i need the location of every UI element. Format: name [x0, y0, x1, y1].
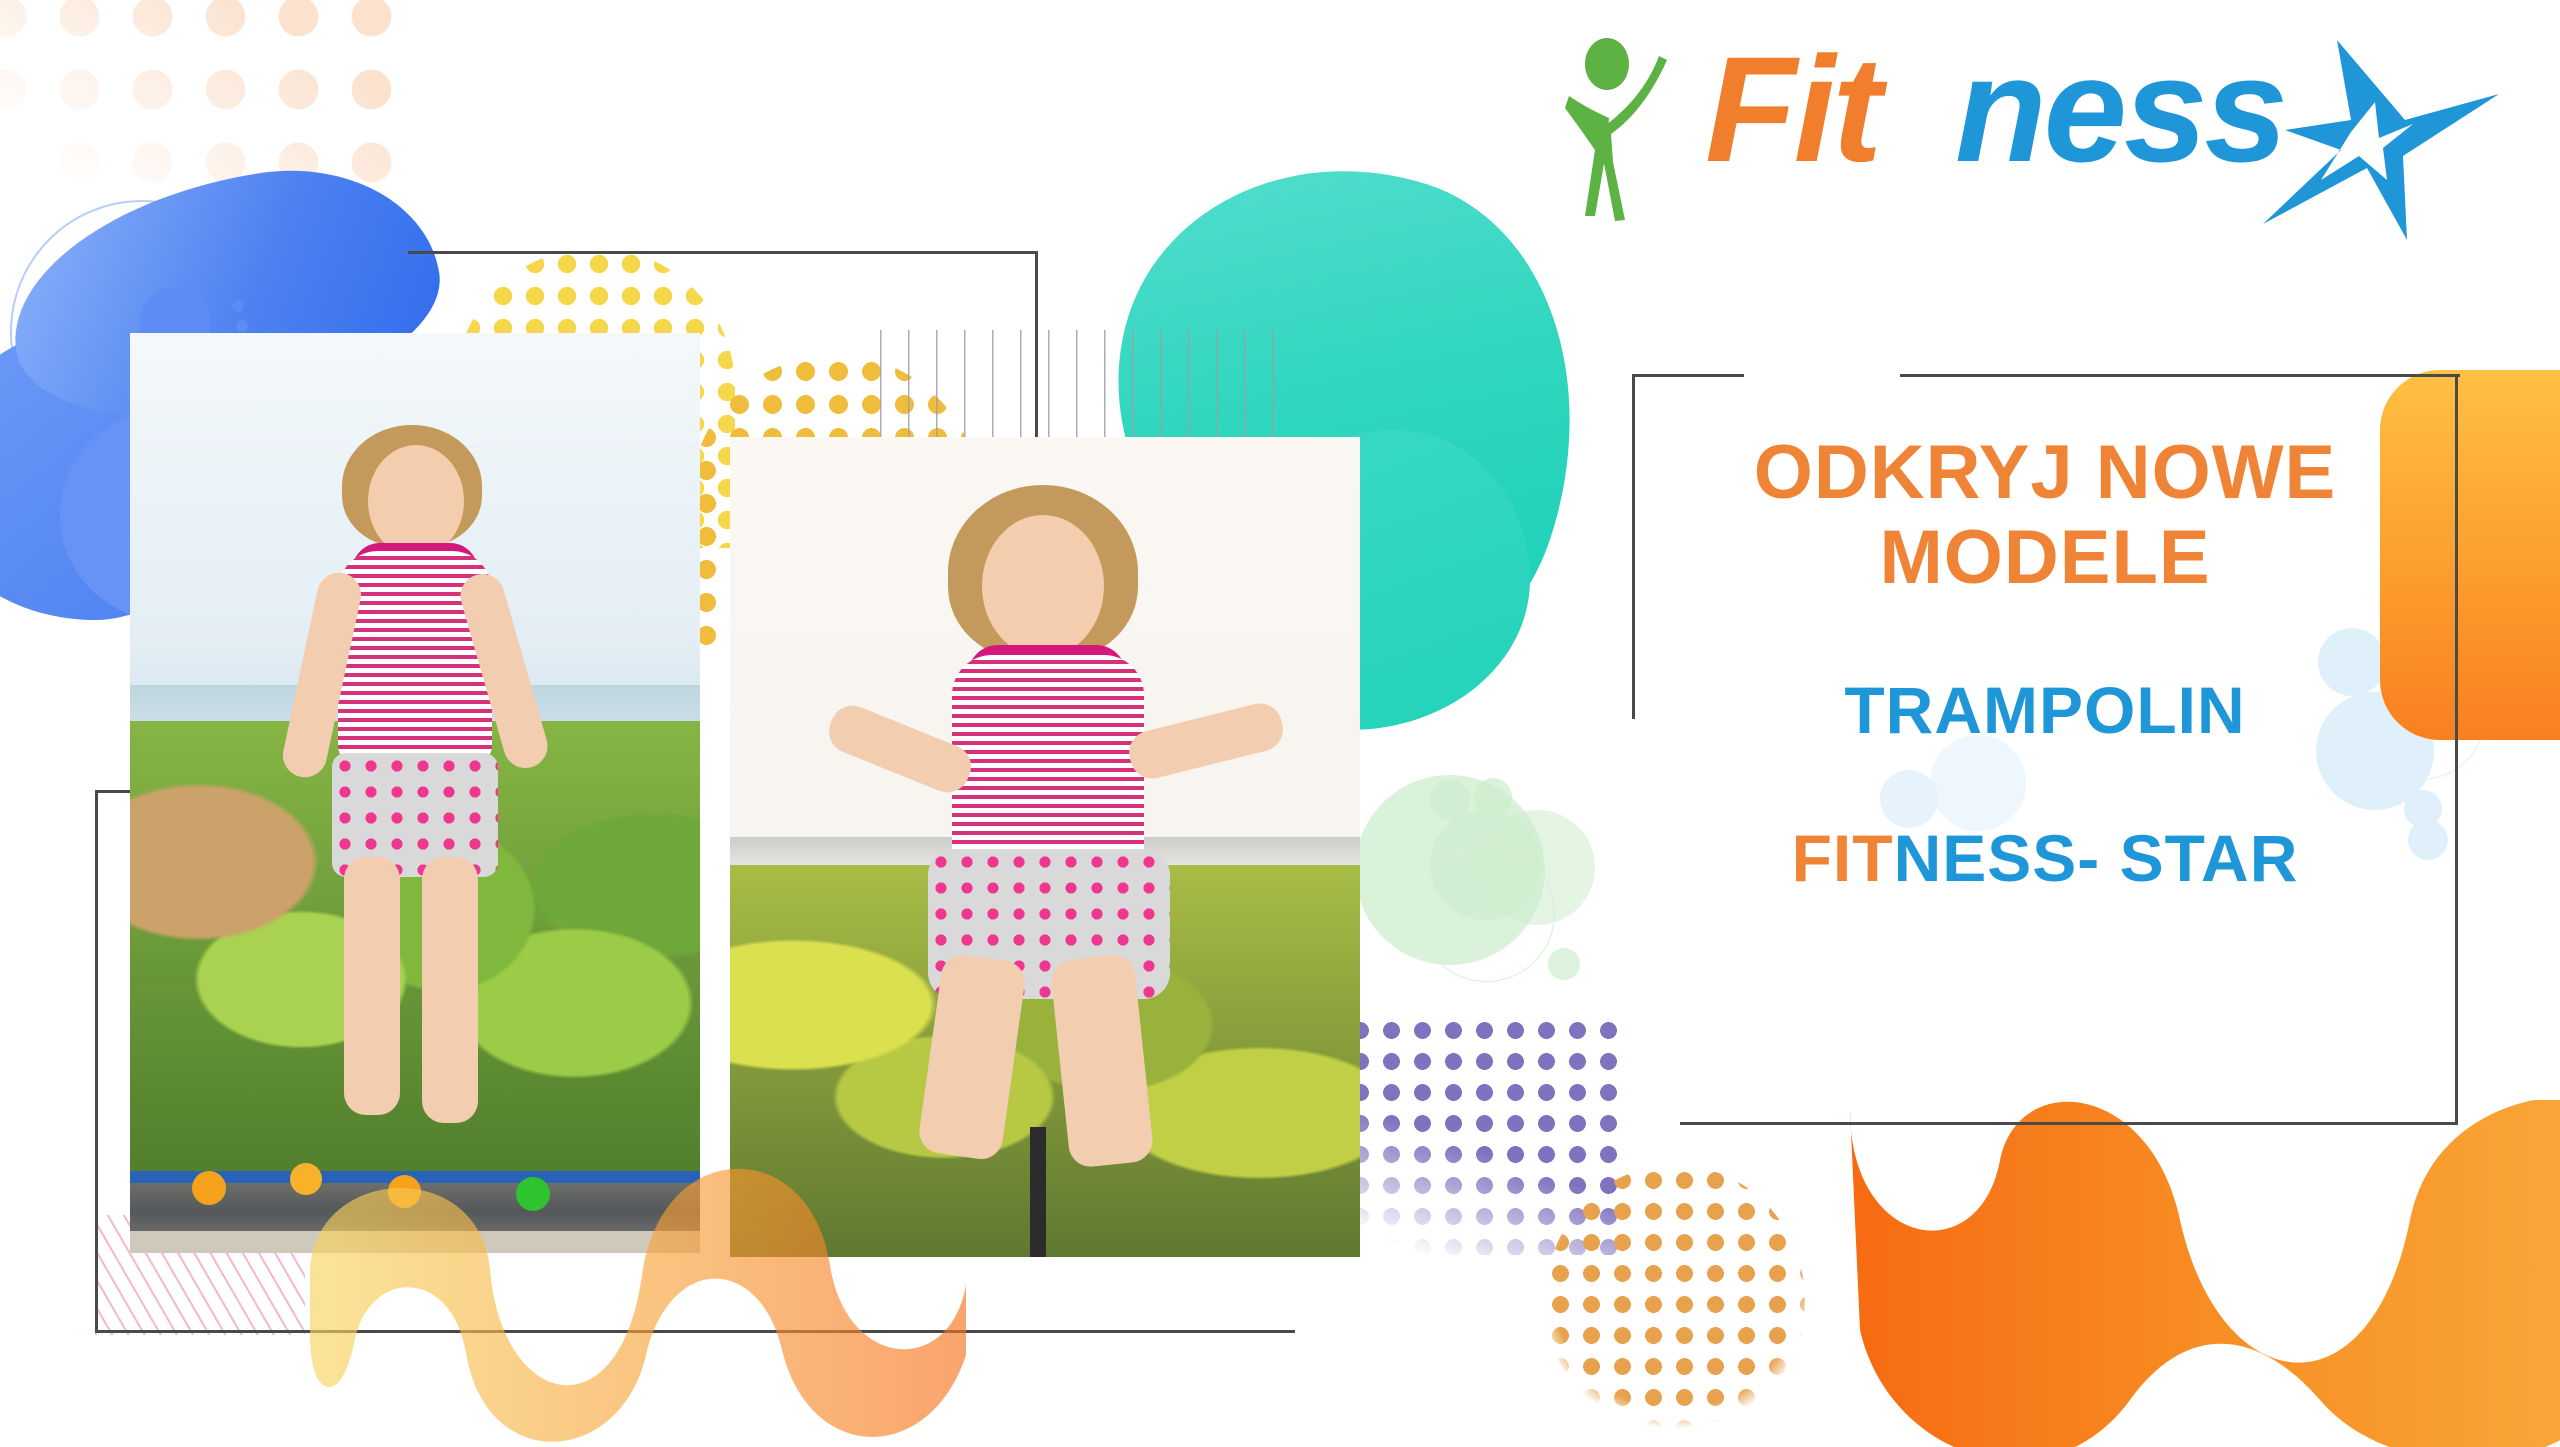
promo-banner: Fit ness ODKRYJ NOWE MODELE TRAMPOLIN FI…	[0, 0, 2560, 1447]
brand-line: FITNESS- STAR	[1660, 820, 2430, 896]
right-frame-right-line	[2455, 374, 2458, 1124]
headline-line-2: MODELE	[1660, 515, 2430, 600]
right-frame-top-left-line	[1632, 374, 1744, 377]
green-ring-decoration	[1418, 845, 1555, 982]
star-icon	[2255, 28, 2505, 243]
orange-wave-left-decoration	[290, 1105, 980, 1447]
green-bubble-3-decoration	[1474, 778, 1512, 816]
green-bubble-4-decoration	[1430, 780, 1470, 820]
subheadline-trampolin: TRAMPOLIN	[1660, 672, 2430, 748]
orange-dot-grid-decoration	[1545, 1165, 1805, 1435]
green-bubble-6-decoration	[1548, 948, 1580, 980]
running-person-icon	[1555, 38, 1695, 228]
right-frame-top-right-line	[1900, 374, 2460, 377]
brand-part-fit: FIT	[1792, 821, 1894, 895]
right-frame-left-line	[1632, 374, 1635, 719]
blue-micro-dot-b-decoration	[236, 320, 248, 332]
right-frame-bottom-line	[1680, 1122, 2458, 1125]
blue-micro-dot-a-decoration	[232, 300, 244, 312]
orange-wave-right-decoration	[1850, 1100, 2560, 1447]
left-frame-top-line	[408, 251, 1038, 254]
logo-word-fit: Fit	[1705, 34, 1879, 184]
logo-word-ness: ness	[1955, 34, 2285, 184]
left-frame-left-line	[95, 790, 98, 1333]
headline-line-1: ODKRYJ NOWE	[1660, 430, 2430, 515]
brand-part-ness-star: NESS- STAR	[1894, 821, 2299, 895]
promo-text-block: ODKRYJ NOWE MODELE TRAMPOLIN FITNESS- ST…	[1660, 430, 2430, 896]
fitness-star-logo[interactable]: Fit ness	[1555, 28, 2505, 228]
